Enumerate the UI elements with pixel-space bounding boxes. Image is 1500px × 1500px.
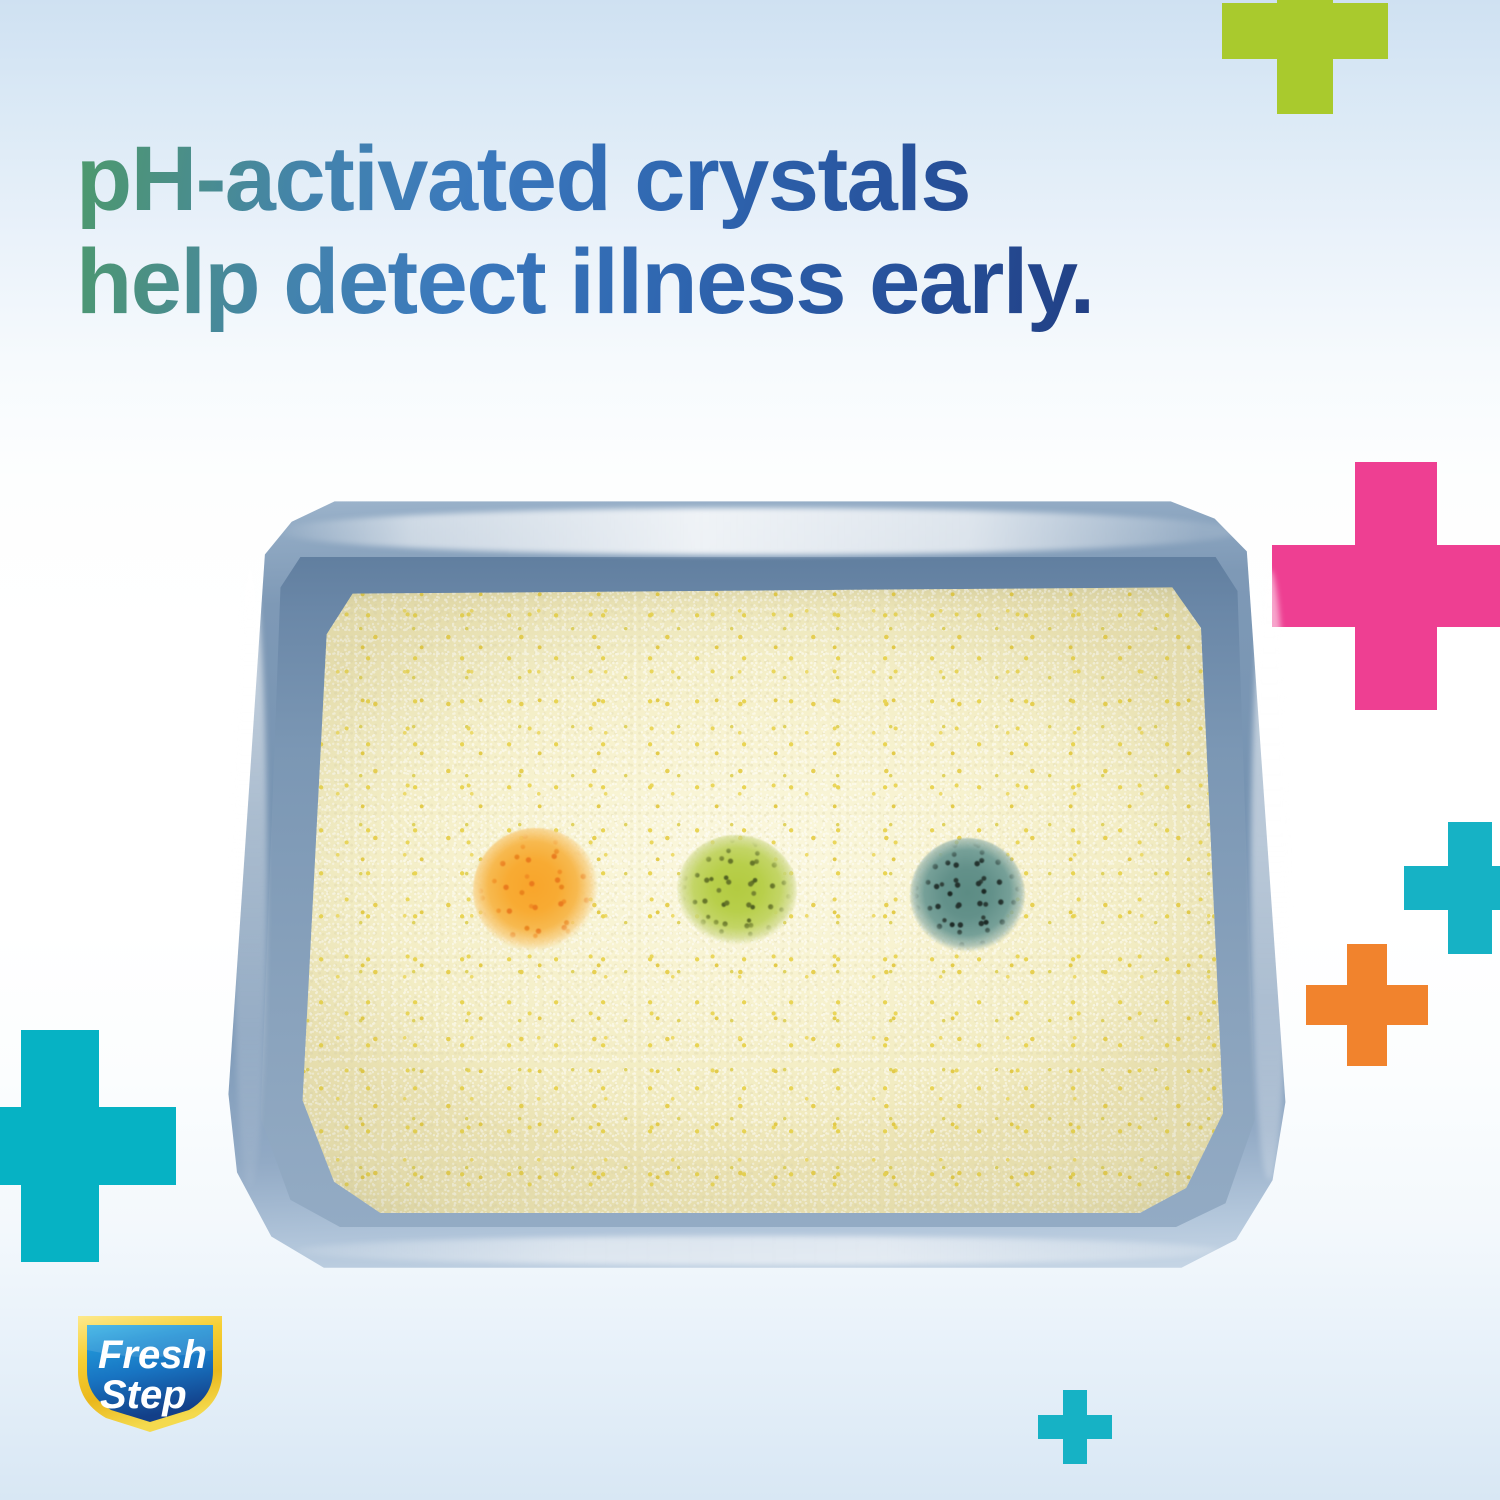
orange-cross-icon [1306,944,1428,1066]
litter-box-rim-highlight-left [233,562,267,1188]
litter-box-rim-highlight-top [276,508,1241,555]
headline-line-1: pH-activated crystals [76,128,1396,231]
teal-cross-bottom-icon [1038,1390,1112,1464]
teal-cross-left-icon [0,1030,176,1262]
fresh-step-logo: Fresh Step [72,1306,228,1436]
marketing-image: pH-activated crystals help detect illnes… [0,0,1500,1500]
headline-line-2: help detect illness early. [76,231,1396,334]
brand-line-1: Fresh [98,1333,207,1377]
pink-cross-icon [1272,462,1500,710]
litter-box-photo [222,492,1294,1274]
lime-cross-icon [1222,0,1388,114]
litter-box-rim-highlight-right [1251,570,1287,1180]
litter-box-rim-highlight-bottom [297,1236,1219,1264]
teal-cross-right-icon [1404,822,1500,954]
headline: pH-activated crystals help detect illnes… [76,128,1396,334]
brand-line-2: Step [100,1373,187,1417]
litter-crystal-bed [297,587,1223,1213]
